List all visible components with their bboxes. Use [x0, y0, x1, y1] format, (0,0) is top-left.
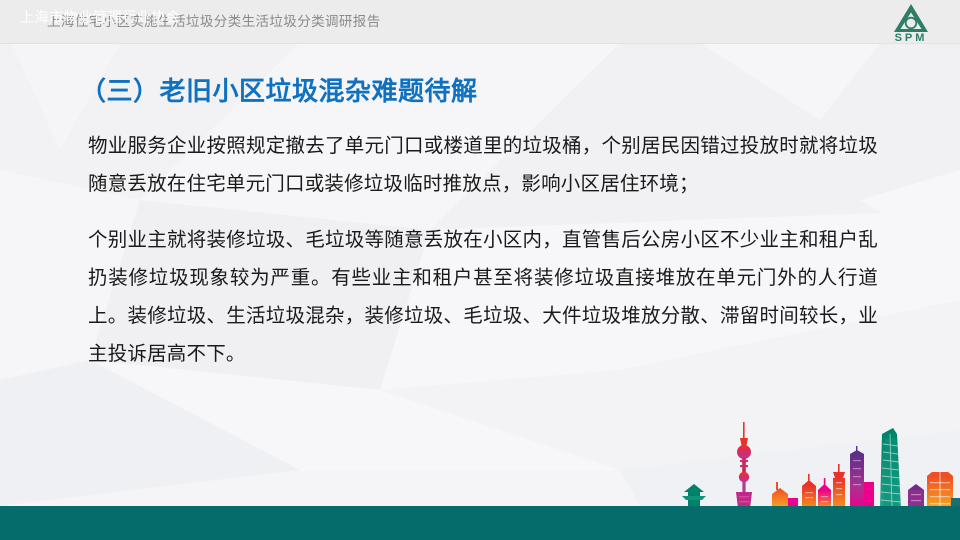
skyline-building-purple — [908, 484, 924, 508]
footer-bar — [0, 506, 960, 540]
footer-organization-name: 上海市物业管理行业协会 — [20, 0, 181, 34]
spm-logo-text: SPM — [880, 33, 942, 44]
page-title: （三）老旧小区垃圾混杂难题待解 — [80, 71, 478, 108]
body-paragraph-2: 个别业主就将装修垃圾、毛垃圾等随意丢放在小区内，直管售后公房小区不少业主和租户乱… — [88, 221, 878, 373]
skyline-building-red-spire — [833, 464, 845, 508]
spm-logo: SPM — [880, 3, 942, 47]
skyline-shanghai-tower — [880, 428, 901, 508]
skyline-jin-mao-tower — [850, 446, 874, 508]
skyline-building-orange-mid — [772, 482, 798, 508]
skyline-oriental-pearl-tower — [736, 422, 752, 508]
skyline-building-cluster-left — [802, 474, 831, 508]
spm-triangle-icon — [893, 3, 929, 33]
slide-canvas: 上海住宅小区实施生活垃圾分类生活垃圾分类调研报告 SPM （三）老旧小区垃圾混杂… — [0, 0, 960, 540]
header-divider — [0, 43, 960, 44]
shanghai-skyline-illustration — [680, 420, 960, 508]
body-paragraph-1: 物业服务企业按照规定撤去了单元门口或楼道里的垃圾桶，个别居民因错过投放时就将垃圾… — [88, 127, 878, 203]
skyline-building-orange-right — [927, 472, 953, 508]
skyline-pagoda — [682, 484, 706, 508]
body-content: 物业服务企业按照规定撤去了单元门口或楼道里的垃圾桶，个别居民因错过投放时就将垃圾… — [88, 127, 878, 373]
